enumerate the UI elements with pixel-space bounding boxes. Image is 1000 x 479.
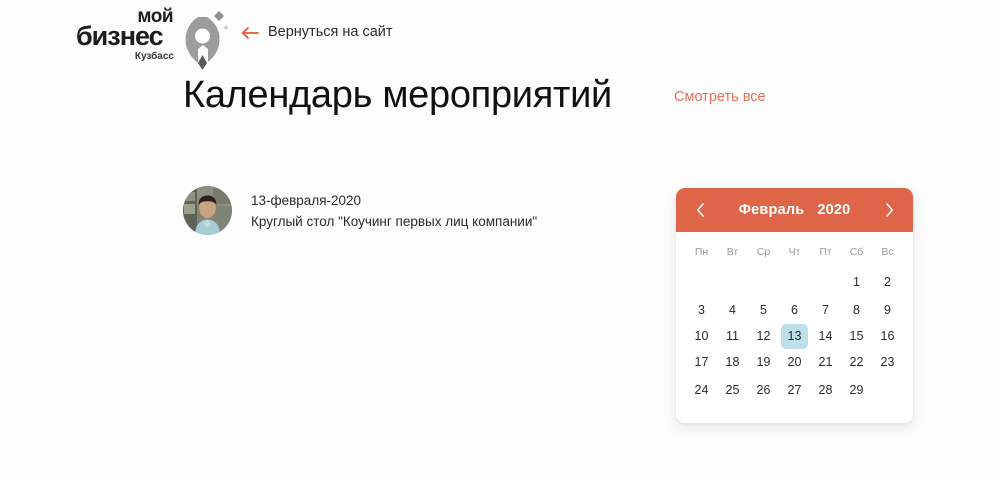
weekday-label: Сб [841,242,872,267]
back-to-site-link[interactable]: Вернуться на сайт [241,24,393,40]
back-to-site-label: Вернуться на сайт [268,24,393,40]
logo-text-kuzbass: Кузбасс [135,51,174,62]
calendar-day-empty [719,267,746,292]
event-list: 13-февраля-2020 Круглый стол "Коучинг пе… [183,186,613,235]
calendar-day[interactable]: 7 [812,298,839,323]
calendar-day-cell: 24 [686,375,717,405]
calendar-day-cell: 10 [686,323,717,349]
calendar-day[interactable]: 8 [843,298,870,323]
calendar-week-row: 17181920212223 [686,349,903,375]
calendar-widget: Февраль 2020 Пн Вт Ср Чт Пт Сб Вс 12 [676,188,913,423]
calendar-day-cell: 1 [841,267,872,297]
calendar-day[interactable]: 5 [750,298,777,323]
calendar-day-cell: 25 [717,375,748,405]
calendar-day-cell: 22 [841,349,872,375]
calendar-day-cell: 16 [872,323,903,349]
calendar-month-label: Февраль [739,202,805,218]
calendar-day-cell: 28 [810,375,841,405]
calendar-day-cell [717,267,748,297]
calendar-day-cell: 19 [748,349,779,375]
calendar-day[interactable]: 20 [781,350,808,375]
site-logo[interactable]: мой бизнес Кузбасс [76,7,211,65]
calendar-day[interactable]: 10 [688,324,715,349]
calendar-day-empty [750,267,777,292]
calendar-grid: Пн Вт Ср Чт Пт Сб Вс 1234567891011121314… [686,242,903,405]
list-item[interactable]: 13-февраля-2020 Круглый стол "Коучинг пе… [183,186,613,235]
calendar-day-cell: 29 [841,375,872,405]
calendar-day[interactable]: 26 [750,378,777,403]
calendar-day-cell [872,375,903,405]
calendar-day-cell: 26 [748,375,779,405]
logo-text-biznes: бизнес [76,22,163,50]
weekday-label: Вт [717,242,748,267]
calendar-day[interactable]: 2 [874,270,901,295]
calendar-day[interactable]: 17 [688,350,715,375]
weekday-label: Чт [779,242,810,267]
calendar-day[interactable]: 16 [874,324,901,349]
rocket-pin-icon [172,9,230,71]
calendar-day-empty [688,267,715,292]
calendar-weekday-row: Пн Вт Ср Чт Пт Сб Вс [686,242,903,267]
calendar-week-row: 242526272829 [686,375,903,405]
calendar-day[interactable]: 11 [719,324,746,349]
weekday-label: Пн [686,242,717,267]
calendar-day-cell: 23 [872,349,903,375]
calendar-day-cell: 27 [779,375,810,405]
calendar-day-cell: 18 [717,349,748,375]
calendar-day-cell: 2 [872,267,903,297]
calendar-day-cell: 11 [717,323,748,349]
calendar-day-cell [779,267,810,297]
page-title: Календарь мероприятий [183,72,612,118]
calendar-day-cell [748,267,779,297]
calendar-day[interactable]: 22 [843,350,870,375]
calendar-day-cell: 3 [686,297,717,323]
calendar-day[interactable]: 6 [781,298,808,323]
calendar-day-cell: 9 [872,297,903,323]
calendar-day-cell: 14 [810,323,841,349]
weekday-label: Пт [810,242,841,267]
calendar-day-cell: 7 [810,297,841,323]
event-date: 13-февраля-2020 [251,192,537,209]
chevron-left-icon[interactable] [692,199,708,221]
calendar-day-cell: 5 [748,297,779,323]
calendar-day[interactable]: 24 [688,378,715,403]
calendar-day-cell: 21 [810,349,841,375]
calendar-day-cell: 20 [779,349,810,375]
calendar-day-cell [810,267,841,297]
weekday-label: Ср [748,242,779,267]
calendar-day[interactable]: 25 [719,378,746,403]
event-text: 13-февраля-2020 Круглый стол "Коучинг пе… [251,192,537,230]
calendar-day-cell [686,267,717,297]
calendar-day[interactable]: 9 [874,298,901,323]
calendar-day-cell: 8 [841,297,872,323]
calendar-day-cell: 13 [779,323,810,349]
calendar-header: Февраль 2020 [676,188,913,232]
calendar-day-cell: 6 [779,297,810,323]
calendar-week-row: 10111213141516 [686,323,903,349]
calendar-day[interactable]: 27 [781,378,808,403]
calendar-title: Февраль 2020 [739,202,851,218]
calendar-day[interactable]: 14 [812,324,839,349]
chevron-right-icon[interactable] [881,199,897,221]
calendar-day[interactable]: 12 [750,324,777,349]
event-name: Круглый стол "Коучинг первых лиц компани… [251,213,537,230]
calendar-day[interactable]: 23 [874,350,901,375]
weekday-label: Вс [872,242,903,267]
calendar-day[interactable]: 21 [812,350,839,375]
calendar-day[interactable]: 1 [843,270,870,295]
calendar-year-label: 2020 [817,202,850,218]
calendar-day[interactable]: 4 [719,298,746,323]
calendar-week-row: 12 [686,267,903,297]
calendar-day-selected[interactable]: 13 [781,324,808,349]
calendar-day-empty [874,375,901,400]
calendar-day[interactable]: 18 [719,350,746,375]
see-all-link[interactable]: Смотреть все [674,89,766,105]
calendar-day[interactable]: 19 [750,350,777,375]
top-bar: мой бизнес Кузбасс Вернуться на сайт [0,0,1000,70]
calendar-day-empty [812,267,839,292]
arrow-left-icon [241,26,259,38]
calendar-day-cell: 4 [717,297,748,323]
calendar-day-cell: 15 [841,323,872,349]
calendar-day[interactable]: 28 [812,378,839,403]
avatar [183,186,232,235]
calendar-days-body: 1234567891011121314151617181920212223242… [686,267,903,405]
calendar-day[interactable]: 3 [688,298,715,323]
calendar-day-cell: 17 [686,349,717,375]
calendar-day[interactable]: 29 [843,378,870,403]
calendar-day-cell: 12 [748,323,779,349]
calendar-day-empty [781,267,808,292]
calendar-week-row: 3456789 [686,297,903,323]
calendar-body: Пн Вт Ср Чт Пт Сб Вс 1234567891011121314… [676,232,913,423]
calendar-day[interactable]: 15 [843,324,870,349]
